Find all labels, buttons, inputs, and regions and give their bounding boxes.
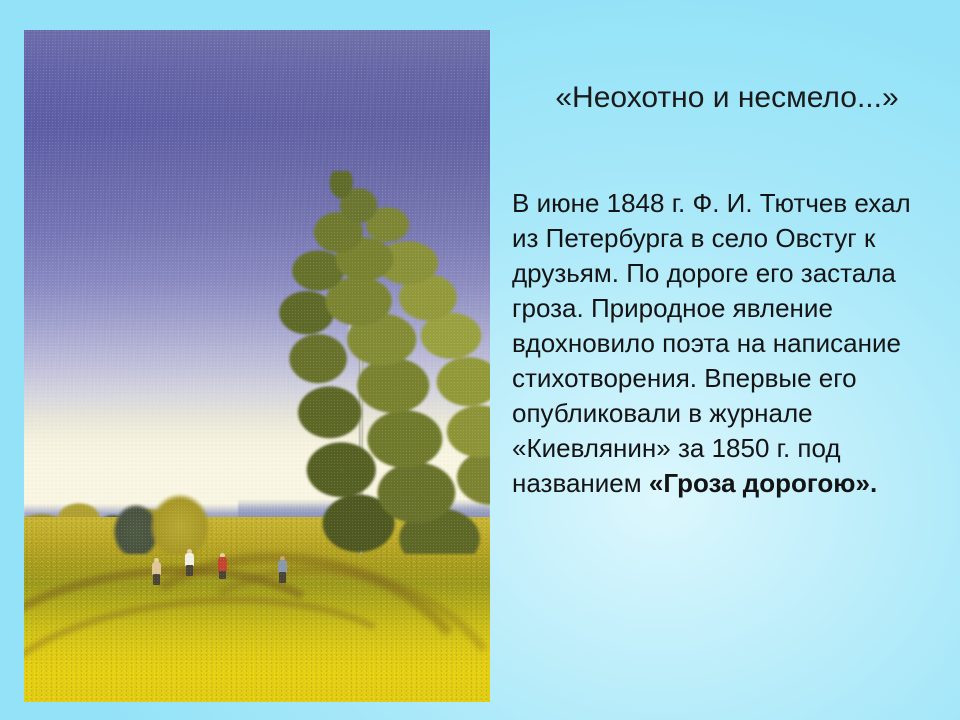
body-text-segment-2: «Гроза дорогою». <box>649 468 877 498</box>
child-body <box>278 560 287 573</box>
child-legs <box>279 572 286 583</box>
landscape-painting-image <box>24 30 490 702</box>
painting-birch-foliage <box>243 171 490 554</box>
child-body <box>152 562 161 575</box>
child-body <box>185 553 194 566</box>
body-text-segment-1: В июне 1848 г. Ф. И. Тютчев ехал из Пете… <box>512 188 911 498</box>
slide-body-text: В июне 1848 г. Ф. И. Тютчев ехал из Пете… <box>512 186 944 501</box>
slide-title: «Неохотно и несмело...» <box>512 80 942 116</box>
painting-birch-tree <box>243 171 490 554</box>
child-legs <box>153 574 160 585</box>
painting-bright-shrub <box>150 494 211 554</box>
slide-canvas: «Неохотно и несмело...» В июне 1848 г. Ф… <box>0 0 960 720</box>
child-body <box>218 557 227 572</box>
child-legs <box>186 565 193 576</box>
child-legs <box>219 571 226 579</box>
